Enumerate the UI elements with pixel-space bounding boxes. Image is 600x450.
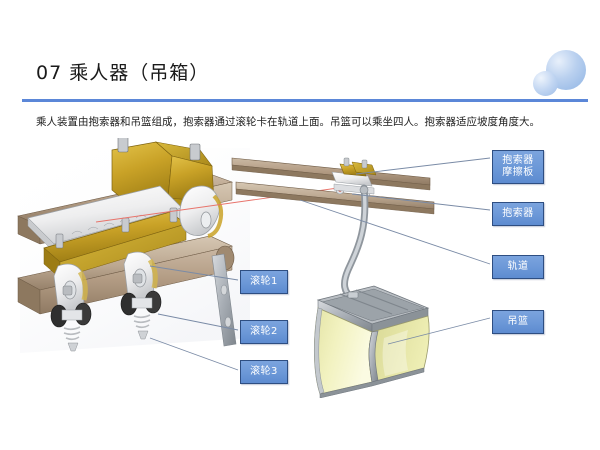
callout-label-friction-plate[interactable]: 抱索器 摩擦板 bbox=[492, 150, 544, 184]
callout-text: 轨道 bbox=[508, 261, 529, 273]
page-title: 07 乘人器（吊箱） bbox=[36, 58, 209, 85]
leader-friction-plate bbox=[356, 158, 490, 174]
callout-text-line2: 摩擦板 bbox=[502, 167, 534, 179]
callout-label-cabin[interactable]: 吊篮 bbox=[492, 310, 544, 334]
title-divider bbox=[22, 99, 588, 102]
small-blue-circle-icon bbox=[533, 71, 558, 96]
callout-text: 滚轮2 bbox=[250, 326, 278, 338]
decorative-circles bbox=[516, 44, 592, 102]
description-text: 乘人装置由抱索器和吊篮组成，抱索器通过滚轮卡在轨道上面。吊篮可以乘坐四人。抱索器… bbox=[36, 115, 540, 130]
large-blue-circle-icon bbox=[546, 50, 586, 90]
callout-text: 滚轮3 bbox=[250, 366, 278, 378]
callout-label-track[interactable]: 轨道 bbox=[492, 255, 544, 279]
callout-text: 滚轮1 bbox=[250, 276, 278, 288]
callout-label-grip[interactable]: 抱索器 bbox=[492, 202, 544, 226]
callout-text: 抱索器 bbox=[502, 208, 534, 220]
callout-label-roller-1[interactable]: 滚轮1 bbox=[240, 270, 288, 294]
callout-text-line1: 抱索器 bbox=[502, 155, 534, 167]
callout-label-roller-3[interactable]: 滚轮3 bbox=[240, 360, 288, 384]
callout-label-roller-2[interactable]: 滚轮2 bbox=[240, 320, 288, 344]
callout-text: 吊篮 bbox=[508, 316, 529, 328]
overview-track-rails bbox=[232, 158, 434, 214]
